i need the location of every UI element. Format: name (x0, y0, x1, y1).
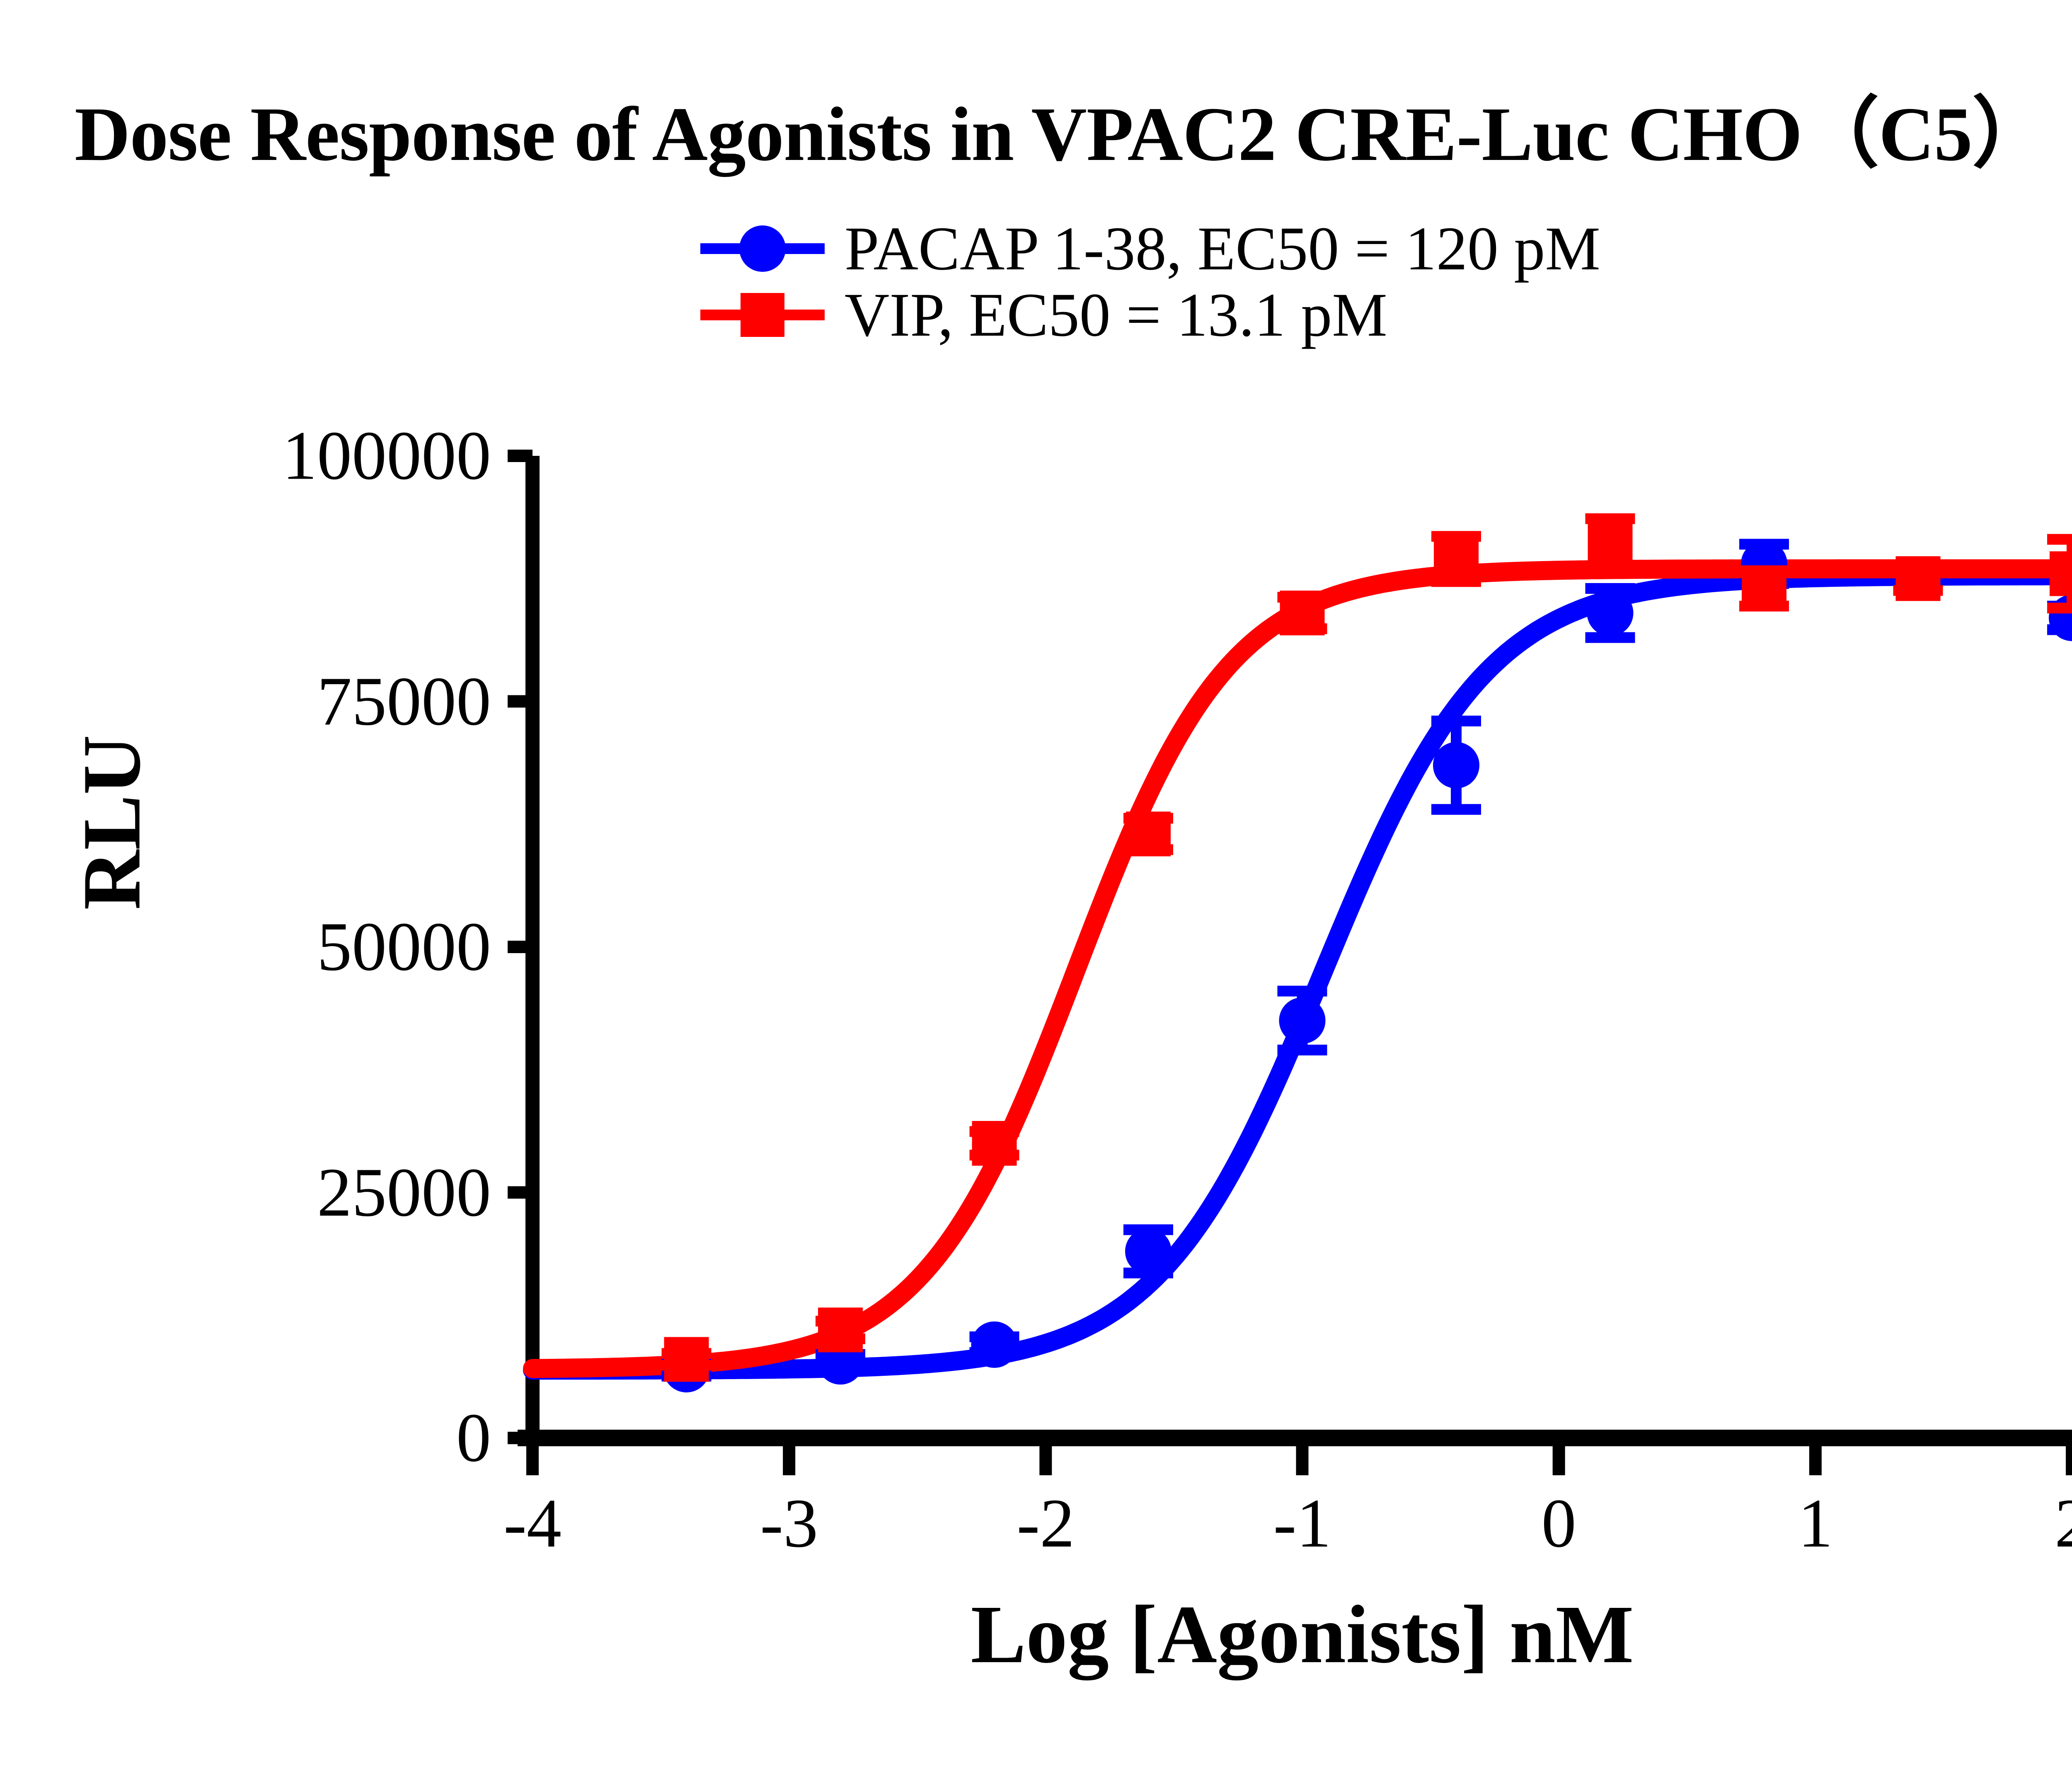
y-tick-label: 0 (2, 1398, 491, 1478)
fit-curve-pacap-1-38 (533, 576, 2072, 1370)
data-point-circle (1125, 1228, 1172, 1275)
data-point-square (2050, 551, 2072, 596)
x-tick-label: 1 (1733, 1484, 1898, 1564)
data-point-square (1126, 811, 1171, 856)
x-tick-label: -4 (450, 1484, 615, 1564)
y-tick-label: 25000 (2, 1152, 491, 1232)
data-point-circle (1433, 742, 1479, 789)
y-tick-label: 50000 (2, 907, 491, 987)
x-tick-label: -2 (963, 1484, 1128, 1564)
data-point-circle (971, 1322, 1018, 1368)
data-point-square (1280, 591, 1325, 635)
x-tick-label: -1 (1220, 1484, 1385, 1564)
data-point-square (972, 1121, 1017, 1166)
data-point-square (1742, 566, 1786, 611)
data-point-circle (1279, 997, 1326, 1044)
data-point-circle (1587, 590, 1634, 636)
y-tick-label: 100000 (2, 416, 491, 496)
data-point-square (664, 1337, 709, 1382)
data-point-square (818, 1307, 863, 1352)
x-tick-label: 2 (1989, 1484, 2072, 1564)
x-tick-label: 0 (1476, 1484, 1642, 1564)
data-point-square (1588, 522, 1633, 566)
fit-curve-vip (533, 569, 2072, 1369)
data-point-square (1434, 537, 1479, 581)
y-tick-label: 75000 (2, 661, 491, 741)
data-point-square (1896, 556, 1941, 601)
x-tick-label: -3 (706, 1484, 872, 1564)
